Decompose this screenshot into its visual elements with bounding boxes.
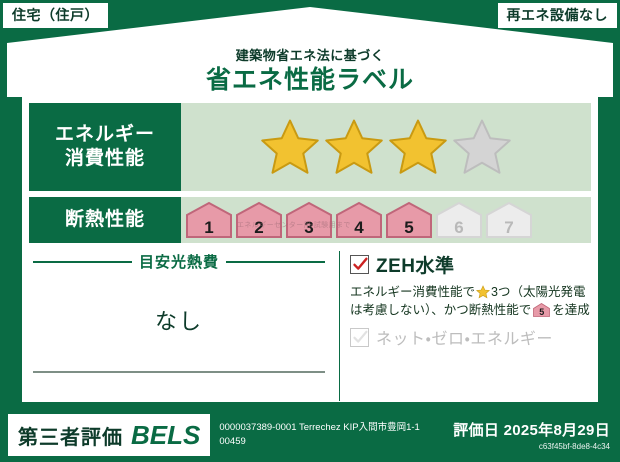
net-zero-energy-label: ネット・ゼロ・エネルギー <box>376 325 553 349</box>
insulation-performance-row: 断熱性能 1234567エネルギーセンター用・試験用まで <box>29 197 591 243</box>
insulation-house-number: 6 <box>435 219 483 236</box>
label-body-card: エネルギー 消費性能 断熱性能 1234567エネルギーセンター用・試験用まで … <box>22 96 598 402</box>
star-filled-icon <box>323 117 385 177</box>
zeh-standard-label: ZEH水準 <box>376 251 455 278</box>
third-party-evaluation-label: 第三者評価 <box>18 421 123 450</box>
net-zero-energy-row[interactable]: ネット・ゼロ・エネルギー <box>350 325 591 349</box>
star-filled-icon <box>387 117 449 177</box>
zeh-desc-part1: エネルギー消費性能で <box>350 285 475 299</box>
badge-building-type: 住宅（住戸） <box>3 3 108 28</box>
utility-cost-header: 目安光熱費 <box>29 251 329 272</box>
utility-cost-value: なし <box>29 304 329 336</box>
zeh-standard-row[interactable]: ZEH水準 <box>350 251 591 278</box>
bels-logo-box: 第三者評価 BELS <box>8 414 210 456</box>
star-filled-icon <box>259 117 321 177</box>
rule-left <box>33 261 132 263</box>
evaluation-hash: c63f45bf-8de8-4c34 <box>453 442 610 451</box>
mini-house-icon: 5 <box>533 303 550 317</box>
zeh-desc-part3: を達成 <box>552 303 590 317</box>
zeh-desc-part2: は考慮しない）、かつ断熱性能で <box>350 303 531 317</box>
lower-section: 目安光熱費 なし ZEH水準 エネルギー消費性能で3つ（ <box>29 251 591 401</box>
energy-performance-label: エネルギー 消費性能 <box>29 103 181 191</box>
insulation-house-number: 5 <box>385 219 433 236</box>
insulation-house-number: 3 <box>285 219 333 236</box>
energy-label-line2: 消費性能 <box>65 147 145 171</box>
mini-star-icon <box>476 285 490 299</box>
insulation-house-inactive: 6 <box>435 201 483 239</box>
insulation-house-active: 2 <box>235 201 283 239</box>
utility-cost-panel: 目安光熱費 なし <box>29 251 329 401</box>
zeh-desc-stars: 3つ（太陽光発電 <box>491 285 585 299</box>
utility-cost-title: 目安光熱費 <box>139 251 219 272</box>
utility-cost-bottom-rule <box>33 371 325 373</box>
badge-renewable-energy: 再エネ設備なし <box>498 3 618 28</box>
evaluation-date-block: 評価日 2025年8月29日 c63f45bf-8de8-4c34 <box>453 419 612 451</box>
insulation-house-active: 3 <box>285 201 333 239</box>
evaluation-date-value: 2025年8月29日 <box>504 422 610 439</box>
mini-house-number: 5 <box>533 308 550 317</box>
insulation-house-active: 4 <box>335 201 383 239</box>
insulation-level-scale: 1234567エネルギーセンター用・試験用まで <box>185 201 533 239</box>
certificate-id-line1: 0000037389-0001 Terrechez KIP入間市豊岡1-1 <box>219 421 420 435</box>
section-divider <box>339 251 340 401</box>
insulation-house-active: 1 <box>185 201 233 239</box>
zeh-panel: ZEH水準 エネルギー消費性能で3つ（太陽光発電は考慮しない）、かつ断熱性能で5… <box>350 251 591 401</box>
net-zero-checkbox-unchecked[interactable] <box>350 328 369 347</box>
energy-performance-row: エネルギー 消費性能 <box>29 103 591 191</box>
energy-label-line1: エネルギー <box>55 123 155 147</box>
evaluation-date-label: 評価日 <box>453 422 499 439</box>
header-subtitle: 建築物省エネ法に基づく <box>236 45 385 64</box>
energy-performance-value <box>181 103 591 191</box>
insulation-house-inactive: 7 <box>485 201 533 239</box>
insulation-performance-label: 断熱性能 <box>29 197 181 243</box>
star-rating <box>259 117 513 177</box>
rule-right <box>226 261 325 263</box>
insulation-performance-value: 1234567エネルギーセンター用・試験用まで <box>181 197 591 243</box>
certificate-id: 0000037389-0001 Terrechez KIP入間市豊岡1-1 00… <box>219 421 420 449</box>
star-empty-icon <box>451 117 513 177</box>
zeh-checkbox-checked[interactable] <box>350 255 369 274</box>
evaluation-date: 評価日 2025年8月29日 <box>453 419 610 440</box>
zeh-description: エネルギー消費性能で3つ（太陽光発電は考慮しない）、かつ断熱性能で5を達成 <box>350 283 591 319</box>
bels-energy-label: 住宅（住戸） 再エネ設備なし 建築物省エネ法に基づく 省エネ性能ラベル エネルギ… <box>0 0 620 462</box>
insulation-house-number: 2 <box>235 219 283 236</box>
page-title: 省エネ性能ラベル <box>206 67 414 93</box>
insulation-house-active: 5 <box>385 201 433 239</box>
certificate-id-line2: 00459 <box>219 435 420 449</box>
insulation-house-number: 7 <box>485 219 533 236</box>
insulation-house-number: 4 <box>335 219 383 236</box>
insulation-house-number: 1 <box>185 219 233 236</box>
bels-wordmark: BELS <box>131 420 200 451</box>
footer-bar: 第三者評価 BELS 0000037389-0001 Terrechez KIP… <box>0 410 620 462</box>
